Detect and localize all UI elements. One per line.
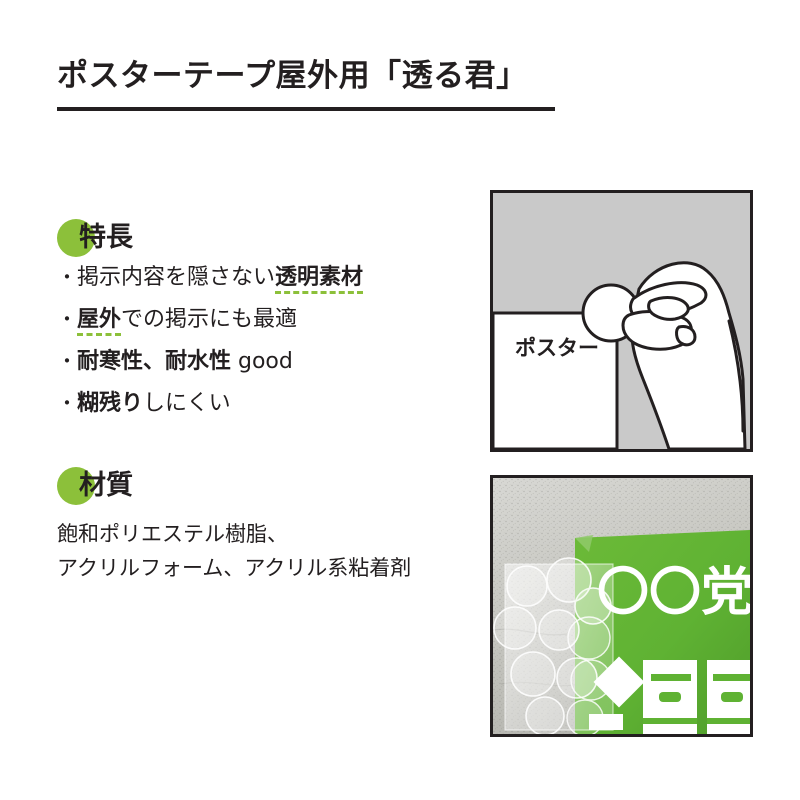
poster-glyph-cut [721,692,743,702]
material-line-1: 飽和ポリエステル樹脂、 [57,517,477,551]
poster-glyph-cut [659,692,681,702]
bullet-marker: ・ [57,307,77,331]
material-description: 飽和ポリエステル樹脂、 アクリルフォーム、アクリル系粘着剤 [57,517,477,585]
poster-headline: 〇〇党 [597,563,750,623]
tape-dot [526,697,564,734]
list-item: ・屋外での掲示にも最適 [57,309,477,331]
page-title: ポスターテープ屋外用「透る君」 [57,58,557,95]
bullet-emphasis-text: 屋外 [77,307,121,336]
material-heading: 材質 [57,463,477,509]
poster-glyph-cut [707,718,750,724]
title-divider [57,107,555,111]
middle-finger [649,298,689,320]
left-content-column: 特長 ・掲示内容を隠さない透明素材 ・屋外での掲示にも最適 ・耐寒性、耐水性 g… [57,215,477,585]
hand-applying-tape-illustration: ポスター [493,193,750,449]
infographic-page: ポスターテープ屋外用「透る君」 特長 ・掲示内容を隠さない透明素材 ・屋外での掲… [0,0,800,800]
bullet-marker: ・ [57,265,77,289]
features-list: ・掲示内容を隠さない透明素材 ・屋外での掲示にも最適 ・耐寒性、耐水性 good… [57,267,477,415]
page-header: ポスターテープ屋外用「透る君」 [57,58,557,111]
list-item: ・耐寒性、耐水性 good [57,351,477,373]
features-heading-label: 特長 [79,219,133,257]
tape-dot [507,566,547,606]
poster-glyph-block [589,714,623,730]
tape-dot [511,652,555,696]
poster-on-wall-photo: 〇〇党 [493,478,750,734]
bullet-tail-text: での掲示にも最適 [121,307,297,332]
photo-panel: 〇〇党 [490,475,753,737]
fingernail [677,326,695,344]
features-heading: 特長 [57,215,477,261]
bullet-emphasis-text: 透明素材 [275,265,363,294]
poster-label: ポスター [515,336,599,360]
material-line-2: アクリルフォーム、アクリル系粘着剤 [57,551,477,585]
poster-glyph-cut [643,718,697,724]
bullet-lead-text: 掲示内容を隠さない [77,265,275,290]
poster-glyph-cut [651,674,691,681]
bullet-emphasis-text: 糊残り [77,391,143,416]
list-item: ・糊残りしにくい [57,393,477,415]
bullet-marker: ・ [57,391,77,415]
material-heading-label: 材質 [79,467,133,505]
tape-dot [494,607,536,649]
poster-glyph-cut [713,674,750,681]
illustration-panel: ポスター [490,190,753,452]
bullet-marker: ・ [57,349,77,373]
bullet-tail-text: しにくい [143,391,231,416]
list-item: ・掲示内容を隠さない透明素材 [57,267,477,289]
bullet-emphasis-text: 耐寒性、耐水性 [77,349,231,374]
tape-dot [568,617,610,659]
bullet-tail-text: good [231,349,293,374]
